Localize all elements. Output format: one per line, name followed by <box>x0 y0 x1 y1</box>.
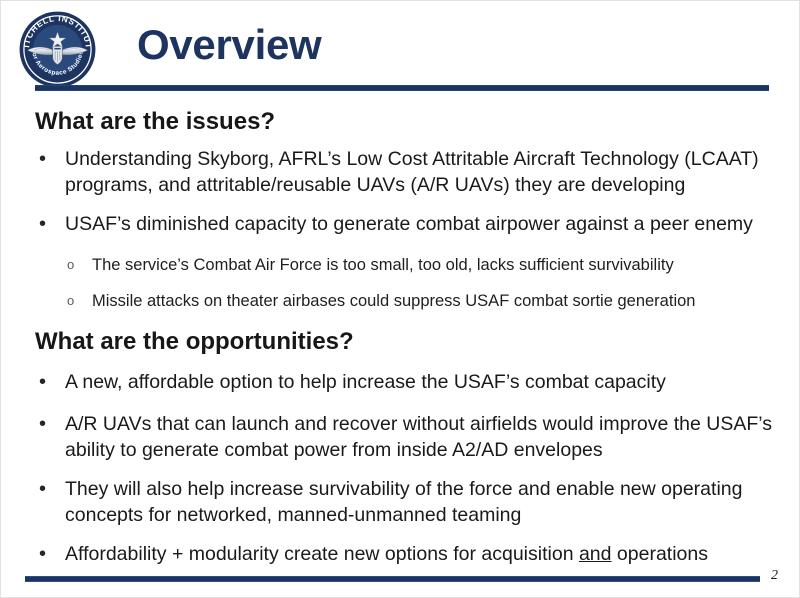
bullet-marker: • <box>35 411 65 437</box>
bullet-text: A new, affordable option to help increas… <box>65 369 783 395</box>
sub-bullet-marker: o <box>64 253 92 277</box>
footer-divider <box>25 576 760 582</box>
section-heading-issues: What are the issues? <box>35 107 275 137</box>
sub-bullet-text: Missile attacks on theater airbases coul… <box>92 289 780 313</box>
bullet-text: Understanding Skyborg, AFRL’s Low Cost A… <box>65 146 783 198</box>
sub-bullet-marker: o <box>64 289 92 313</box>
sub-bullet-text: The service’s Combat Air Force is too sm… <box>92 253 780 277</box>
bullet-item: • They will also help increase survivabi… <box>35 476 783 528</box>
bullet-marker: • <box>35 369 65 395</box>
page-title: Overview <box>137 19 321 71</box>
bullet-marker: • <box>35 146 65 172</box>
bullet-item: • USAF’s diminished capacity to generate… <box>35 211 783 237</box>
sub-bullet-item: o Missile attacks on theater airbases co… <box>64 289 780 313</box>
bullet-item: • A/R UAVs that can launch and recover w… <box>35 411 783 463</box>
bullet-text: They will also help increase survivabili… <box>65 476 783 528</box>
mitchell-institute-logo: MITCHELL INSTITUTE for Aerospace Studies <box>18 10 97 89</box>
bullet-text: A/R UAVs that can launch and recover wit… <box>65 411 783 463</box>
bullet-marker: • <box>35 211 65 237</box>
page-number: 2 <box>771 568 778 584</box>
section-heading-opportunities: What are the opportunities? <box>35 327 354 357</box>
sub-bullet-item: o The service’s Combat Air Force is too … <box>64 253 780 277</box>
bullet-item: • A new, affordable option to help incre… <box>35 369 783 395</box>
slide-header: MITCHELL INSTITUTE for Aerospace Studies… <box>1 1 800 93</box>
bullet-item: • Understanding Skyborg, AFRL’s Low Cost… <box>35 146 783 198</box>
slide-body: What are the issues? • Understanding Sky… <box>1 93 800 561</box>
bullet-marker: • <box>35 476 65 502</box>
presentation-slide: MITCHELL INSTITUTE for Aerospace Studies… <box>0 0 800 598</box>
header-divider <box>35 85 769 91</box>
slide-footer: 2 <box>1 561 800 598</box>
bullet-text: USAF’s diminished capacity to generate c… <box>65 211 783 237</box>
